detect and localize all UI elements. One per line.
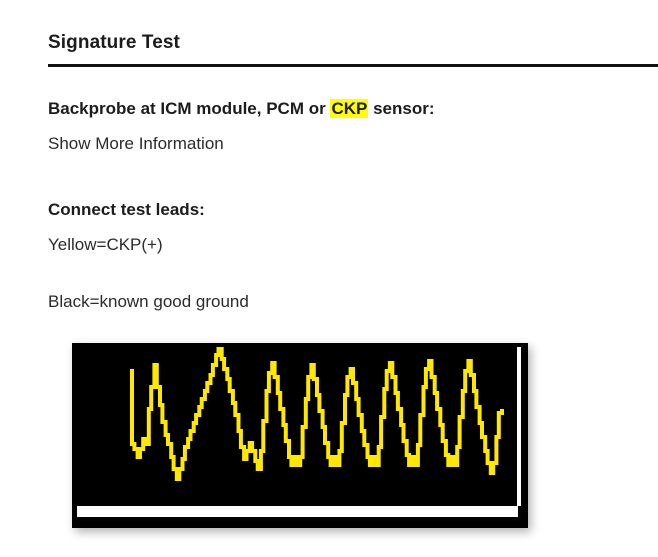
connect-test-leads-label: Connect test leads: bbox=[48, 198, 205, 222]
scope-right-marker bbox=[517, 347, 521, 506]
backprobe-label: Backprobe at ICM module, PCM or CKP sens… bbox=[48, 97, 434, 121]
yellow-lead-value: Yellow=CKP(+) bbox=[48, 233, 205, 257]
backprobe-label-tail: sensor: bbox=[368, 99, 434, 118]
ckp-highlight: CKP bbox=[330, 99, 368, 118]
black-lead-value: Black=known good ground bbox=[48, 290, 249, 314]
document-page: Signature Test Backprobe at ICM module, … bbox=[0, 0, 658, 557]
black-lead-block: Black=known good ground bbox=[48, 290, 249, 314]
waveform-image bbox=[72, 343, 528, 528]
scope-bottom-strip bbox=[77, 506, 518, 517]
backprobe-label-text: Backprobe at ICM module, PCM or bbox=[48, 99, 330, 118]
scope-inner-frame bbox=[77, 347, 521, 521]
connect-test-leads-block: Connect test leads: Yellow=CKP(+) bbox=[48, 198, 205, 257]
heading-divider bbox=[48, 64, 658, 67]
waveform-trace-svg bbox=[77, 347, 521, 517]
backprobe-block: Backprobe at ICM module, PCM or CKP sens… bbox=[48, 97, 434, 156]
show-more-information-link[interactable]: Show More Information bbox=[48, 132, 434, 156]
page-title: Signature Test bbox=[48, 32, 180, 54]
waveform-trace bbox=[132, 349, 502, 479]
